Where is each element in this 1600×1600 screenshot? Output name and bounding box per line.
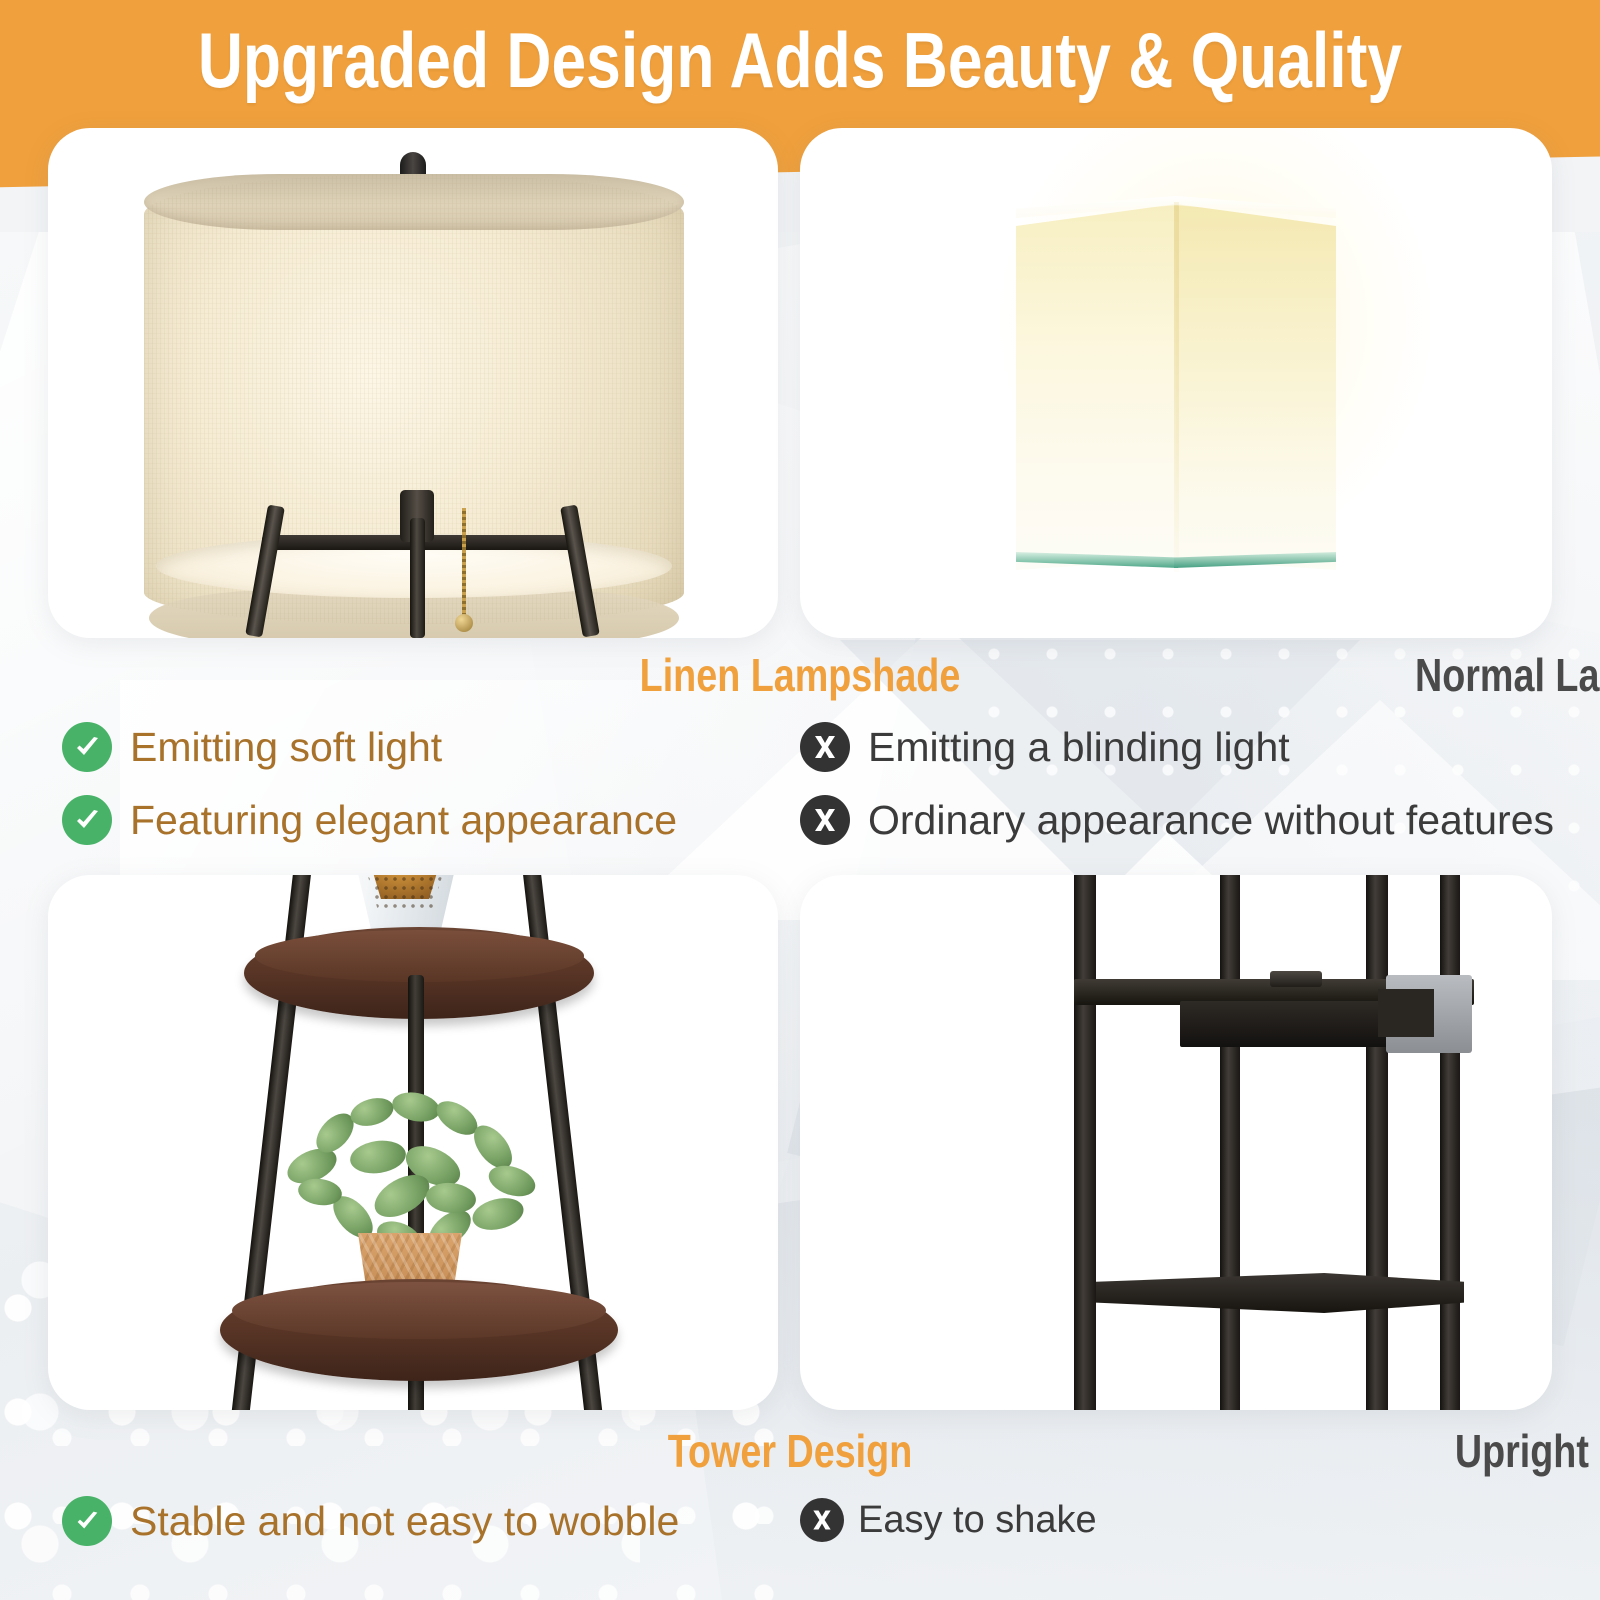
feature-label: Emitting a blinding light [868,723,1290,771]
panel-image-linen-lampshade [48,128,778,638]
cross-icon [800,1498,844,1542]
panel-image-upright-design [800,875,1552,1410]
upright-switch [1270,971,1322,987]
glass-panel-right [1176,204,1336,570]
panel-image-tower-design [48,875,778,1410]
lamp-pull-chain [462,508,466,620]
rectangular-glass-shade [1016,186,1336,578]
glass-base-edge [1012,542,1340,580]
feature-row: Emitting a blinding light [800,722,1290,772]
feature-row: Ordinary appearance without features [800,795,1554,845]
panel-heading-normal-lampshade: Normal Lampshade [934,648,1600,702]
feature-row: Stable and not easy to wobble [62,1496,679,1546]
wooden-shelf-lower [220,1279,618,1381]
page-title: Upgraded Design Adds Beauty & Quality [160,14,1440,106]
upright-post [1220,875,1240,1410]
feature-row: Easy to shake [800,1496,1097,1544]
upright-design-illustration [800,875,1552,1410]
upright-post [1440,875,1460,1410]
lamp-leg-center [410,518,425,638]
upright-post [1074,875,1096,1410]
check-icon [62,1496,112,1546]
feature-row: Featuring elegant appearance [62,795,677,845]
feature-label: Easy to shake [858,1496,1097,1544]
upright-post [1366,875,1388,1410]
glass-panel-left [1016,204,1176,570]
feature-label: Featuring elegant appearance [130,796,677,844]
panel-image-normal-lampshade [800,128,1552,638]
upright-square-shelf [1096,1273,1464,1313]
linen-lampshade-illustration [48,128,778,638]
feature-label: Ordinary appearance without features [868,796,1554,844]
feature-label: Emitting soft light [130,723,442,771]
tower-design-illustration [48,875,778,1410]
panel-heading-upright-design: Upright Design [934,1424,1600,1478]
normal-lampshade-illustration [800,128,1552,638]
check-icon [62,722,112,772]
check-icon [62,795,112,845]
upright-bracket [1386,975,1472,1053]
glass-corner-seam [1174,202,1179,572]
feature-row: Emitting soft light [62,722,442,772]
feature-label: Stable and not easy to wobble [130,1497,679,1545]
cross-icon [800,722,850,772]
cross-icon [800,795,850,845]
